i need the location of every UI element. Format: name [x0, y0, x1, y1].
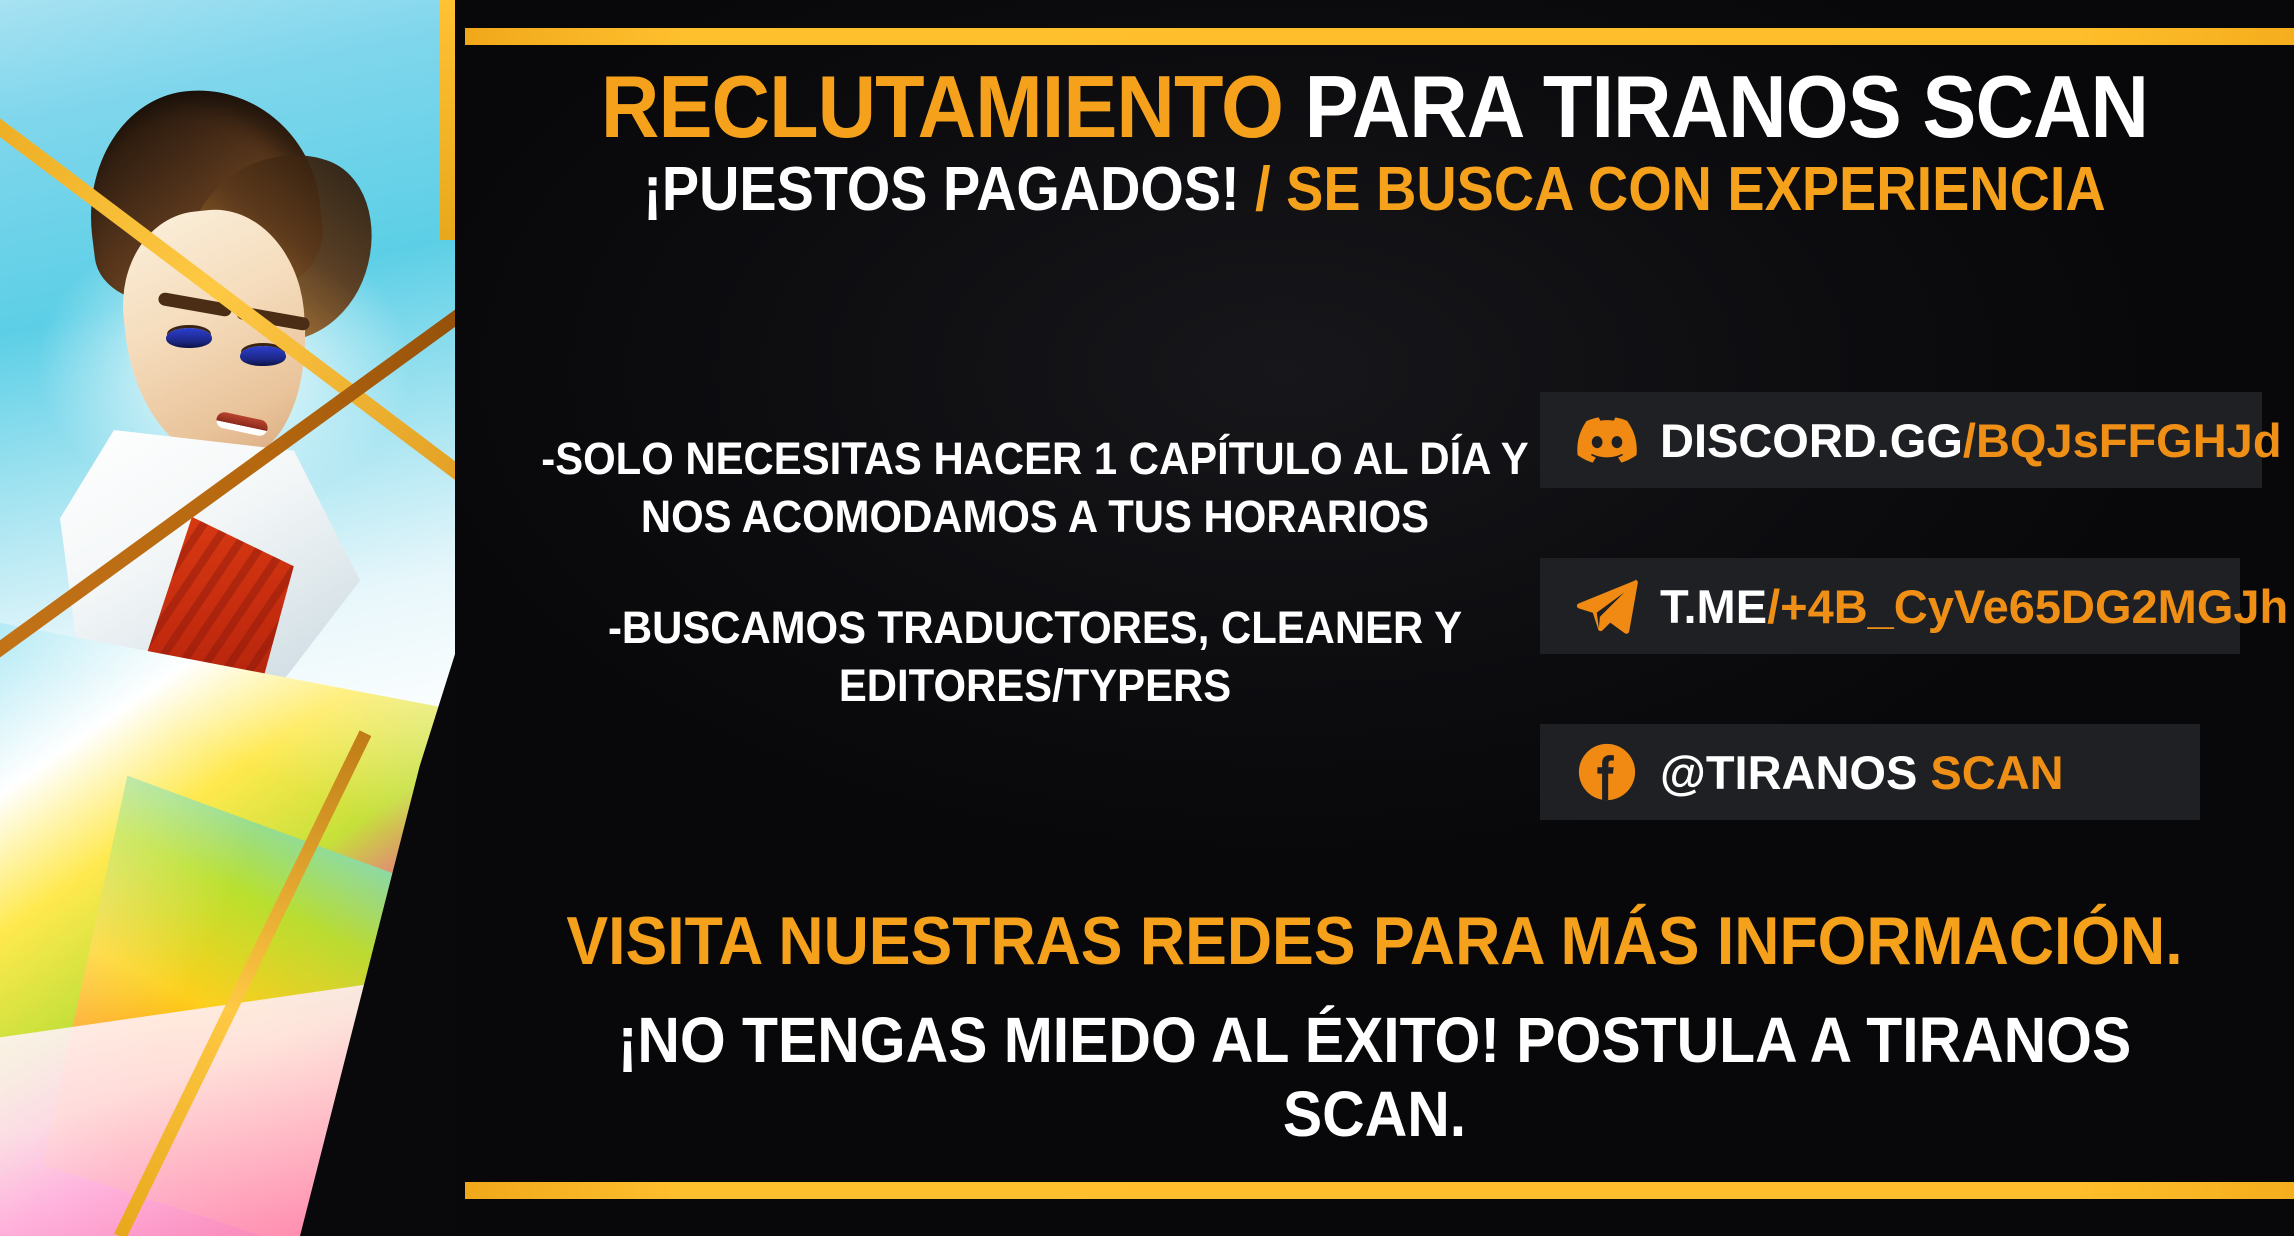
- cta-line-apply: ¡NO TENGAS MIEDO AL ÉXITO! POSTULA A TIR…: [529, 1004, 2221, 1151]
- call-to-action: VISITA NUESTRAS REDES PARA MÁS INFORMACI…: [529, 902, 2221, 1151]
- subtitle-experience: / SE BUSCA CON EXPERIENCIA: [1255, 155, 2106, 224]
- contact-telegram[interactable]: T.ME/+4B_CyVe65DG2MGJh: [1540, 558, 2240, 654]
- contact-discord[interactable]: DISCORD.GG/BQJsFFGHJd: [1540, 392, 2262, 488]
- headline-rest: PARA TIRANOS SCAN: [1305, 57, 2148, 156]
- page-title: RECLUTAMIENTO PARA TIRANOS SCAN: [529, 62, 2221, 152]
- contact-facebook-text: @TIRANOS SCAN: [1660, 745, 2064, 800]
- cta-line-visit: VISITA NUESTRAS REDES PARA MÁS INFORMACI…: [529, 902, 2221, 980]
- telegram-icon: [1576, 575, 1638, 637]
- contact-facebook-label: @TIRANOS: [1660, 746, 1917, 799]
- body-paragraph-roles: -BUSCAMOS TRADUCTORES, CLEANER Y EDITORE…: [533, 599, 1537, 714]
- contact-facebook[interactable]: @TIRANOS SCAN: [1540, 724, 2200, 820]
- gold-divider-bottom: [465, 1182, 2294, 1199]
- contact-list: DISCORD.GG/BQJsFFGHJd T.ME/+4B_CyVe65DG2…: [1540, 392, 2280, 820]
- contact-telegram-text: T.ME/+4B_CyVe65DG2MGJh: [1660, 579, 2288, 634]
- contact-telegram-label: T.ME: [1660, 580, 1767, 633]
- gold-divider-top: [465, 28, 2294, 45]
- subtitle-paid-positions: ¡PUESTOS PAGADOS!: [643, 155, 1239, 224]
- contact-facebook-value: SCAN: [1930, 746, 2063, 799]
- recruitment-banner: RECLUTAMIENTO PARA TIRANOS SCAN ¡PUESTOS…: [0, 0, 2294, 1236]
- content-panel: RECLUTAMIENTO PARA TIRANOS SCAN ¡PUESTOS…: [455, 0, 2294, 1236]
- discord-icon: [1576, 409, 1638, 471]
- contact-discord-value: /BQJsFFGHJd: [1963, 414, 2282, 467]
- body-copy: -SOLO NECESITAS HACER 1 CAPÍTULO AL DÍA …: [533, 430, 1537, 714]
- contact-telegram-value: /+4B_CyVe65DG2MGJh: [1767, 580, 2288, 633]
- body-paragraph-schedule: -SOLO NECESITAS HACER 1 CAPÍTULO AL DÍA …: [533, 430, 1537, 545]
- contact-discord-label: DISCORD.GG: [1660, 414, 1963, 467]
- contact-discord-text: DISCORD.GG/BQJsFFGHJd: [1660, 413, 2282, 468]
- character-eye-right: [240, 346, 286, 366]
- facebook-icon: [1576, 741, 1638, 803]
- character-eye-left: [166, 328, 212, 348]
- headline-highlight: RECLUTAMIENTO: [601, 57, 1283, 156]
- page-subtitle: ¡PUESTOS PAGADOS! / SE BUSCA CON EXPERIE…: [547, 158, 2202, 221]
- artwork-panel: [0, 0, 470, 1236]
- gold-vertical-line: [440, 0, 456, 240]
